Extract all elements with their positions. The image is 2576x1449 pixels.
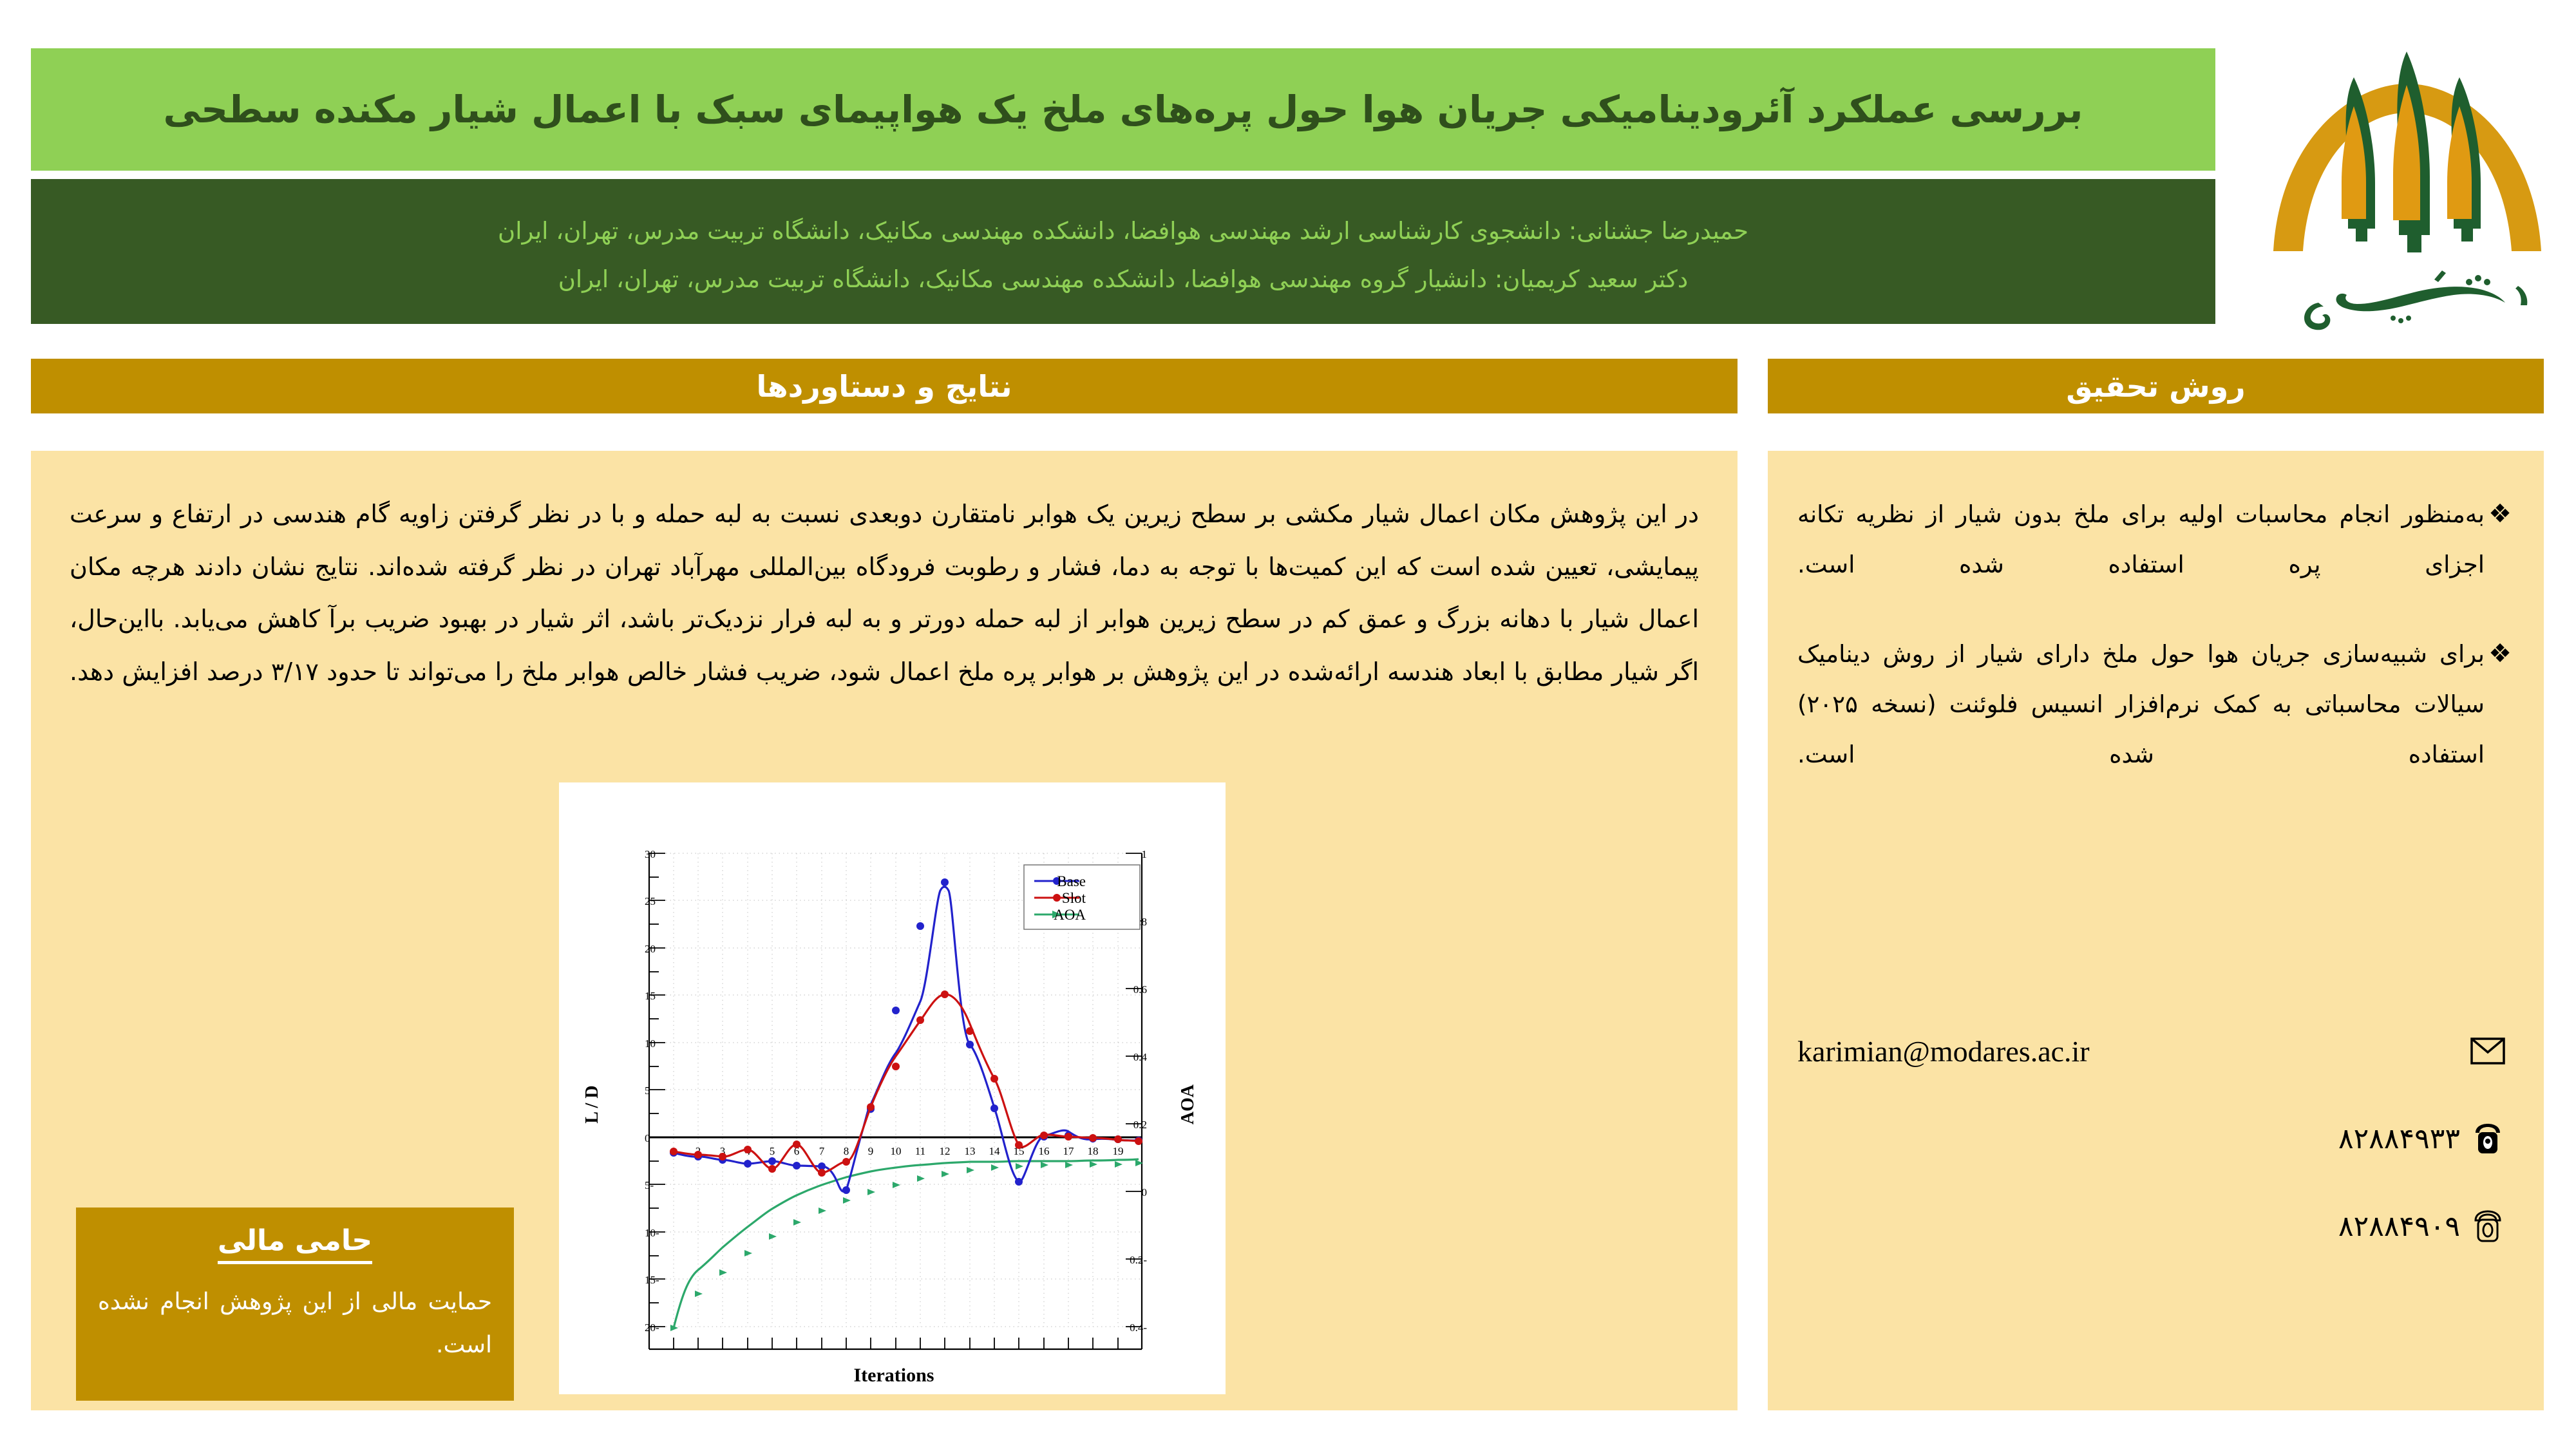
svg-text:16: 16 <box>1039 1145 1050 1157</box>
bullet-diamond-icon: ❖ <box>2485 489 2515 538</box>
svg-text:5: 5 <box>770 1145 775 1157</box>
email-address[interactable]: karimian@modares.ac.ir <box>1797 1034 2460 1068</box>
chart-figure: 302520 15105 0-5-10 -15-20 10.80.6 0.40.… <box>559 782 1226 1394</box>
method-bullet-list: ❖ به‌منظور انجام محاسبات اولیه برای ملخ … <box>1797 489 2515 819</box>
bullet-diamond-icon: ❖ <box>2485 629 2515 678</box>
svg-text:Iterations: Iterations <box>854 1365 934 1386</box>
svg-text:-0.2: -0.2 <box>1130 1254 1147 1266</box>
contact-email-row[interactable]: karimian@modares.ac.ir <box>1797 1030 2515 1072</box>
sponsor-title-wrap: حامی مالی <box>98 1224 492 1264</box>
contact-phone-row-1[interactable]: ۸۲۸۸۴۹۳۳ <box>1797 1118 2515 1159</box>
svg-text:7: 7 <box>819 1145 825 1157</box>
telephone-filled-icon <box>2460 1118 2515 1159</box>
author-line-2: دکتر سعید کریمیان: دانشیار گروه مهندسی ه… <box>89 264 2157 295</box>
svg-text:0.2: 0.2 <box>1133 1119 1147 1131</box>
section-header-method-label: روش تحقیق <box>2066 369 2245 404</box>
phone-number-1[interactable]: ۸۲۸۸۴۹۳۳ <box>1797 1122 2460 1155</box>
contact-phone-row-2[interactable]: ۸۲۸۸۴۹۰۹ <box>1797 1206 2515 1247</box>
sponsor-box: حامی مالی حمایت مالی از این پژوهش انجام … <box>76 1207 514 1401</box>
method-bullet-text-1: به‌منظور انجام محاسبات اولیه برای ملخ بد… <box>1797 489 2485 589</box>
envelope-icon <box>2460 1030 2515 1072</box>
svg-text:0.6: 0.6 <box>1133 983 1147 996</box>
phone-number-2[interactable]: ۸۲۸۸۴۹۰۹ <box>1797 1210 2460 1243</box>
svg-text:10: 10 <box>645 1037 656 1050</box>
section-header-results: نتایج و دستاوردها <box>31 359 1738 413</box>
svg-text:5: 5 <box>645 1084 650 1097</box>
svg-text:0: 0 <box>645 1132 650 1144</box>
svg-text:AOA: AOA <box>1054 907 1086 923</box>
svg-text:Slot: Slot <box>1062 890 1086 906</box>
sponsor-title: حامی مالی <box>218 1224 372 1264</box>
method-panel: ❖ به‌منظور انجام محاسبات اولیه برای ملخ … <box>1768 451 2544 1410</box>
svg-text:30: 30 <box>645 848 656 860</box>
svg-text:15: 15 <box>645 990 656 1002</box>
svg-text:14: 14 <box>989 1145 1001 1157</box>
results-body-text: در این پژوهش مکان اعمال شیار مکشی بر سطح… <box>70 488 1699 699</box>
results-panel: در این پژوهش مکان اعمال شیار مکشی بر سطح… <box>31 451 1738 1410</box>
svg-text:17: 17 <box>1063 1145 1075 1157</box>
svg-text:20: 20 <box>645 943 656 955</box>
svg-text:-0.4: -0.4 <box>1130 1321 1147 1334</box>
svg-text:13: 13 <box>965 1145 976 1157</box>
svg-text:19: 19 <box>1113 1145 1124 1157</box>
chart-legend: Base Slot AOA <box>1024 865 1140 929</box>
svg-text:Base: Base <box>1057 873 1086 889</box>
section-header-results-label: نتایج و دستاوردها <box>756 369 1012 404</box>
svg-text:-5: -5 <box>645 1179 654 1191</box>
ld-aoa-line-chart: 302520 15105 0-5-10 -15-20 10.80.6 0.40.… <box>559 782 1226 1394</box>
sponsor-body: حمایت مالی از این پژوهش انجام نشده است. <box>98 1281 492 1367</box>
svg-text:-15: -15 <box>645 1274 659 1286</box>
poster-root: بررسی عملکرد آئرودینامیکی جریان هوا حول … <box>0 0 2576 1449</box>
method-bullet-text-2: برای شبیه‌سازی جریان هوا حول ملخ دارای ش… <box>1797 629 2485 779</box>
tarbiat-modares-logo-icon <box>2241 13 2573 348</box>
poster-title: بررسی عملکرد آئرودینامیکی جریان هوا حول … <box>164 84 2083 135</box>
svg-text:9: 9 <box>868 1145 874 1157</box>
university-logo <box>2241 13 2573 348</box>
svg-text:8: 8 <box>844 1145 849 1157</box>
chart-canvas: 302520 15105 0-5-10 -15-20 10.80.6 0.40.… <box>559 782 1226 1394</box>
svg-text:1: 1 <box>1142 848 1148 860</box>
poster-title-bar: بررسی عملکرد آئرودینامیکی جریان هوا حول … <box>31 48 2215 171</box>
author-line-1: حمیدرضا جشنانی: دانشجوی کارشناسی ارشد مه… <box>89 216 2157 247</box>
svg-text:25: 25 <box>645 895 656 907</box>
svg-text:10: 10 <box>891 1145 902 1157</box>
telephone-outline-icon <box>2460 1206 2515 1247</box>
svg-text:L / D: L / D <box>582 1085 602 1123</box>
svg-text:0: 0 <box>1142 1186 1148 1198</box>
section-header-method: روش تحقیق <box>1768 359 2544 413</box>
svg-text:12: 12 <box>940 1145 951 1157</box>
svg-text:AOA: AOA <box>1178 1084 1198 1124</box>
svg-text:11: 11 <box>915 1145 925 1157</box>
contact-block: karimian@modares.ac.ir ۸۲۸۸۴۹۳۳ <box>1797 1030 2515 1293</box>
list-item: ❖ به‌منظور انجام محاسبات اولیه برای ملخ … <box>1797 489 2515 589</box>
authors-bar: حمیدرضا جشنانی: دانشجوی کارشناسی ارشد مه… <box>31 179 2215 324</box>
svg-text:-20: -20 <box>645 1321 659 1334</box>
svg-text:-10: -10 <box>645 1227 659 1239</box>
list-item: ❖ برای شبیه‌سازی جریان هوا حول ملخ دارای… <box>1797 629 2515 779</box>
svg-text:18: 18 <box>1088 1145 1099 1157</box>
svg-text:0.4: 0.4 <box>1133 1051 1148 1063</box>
